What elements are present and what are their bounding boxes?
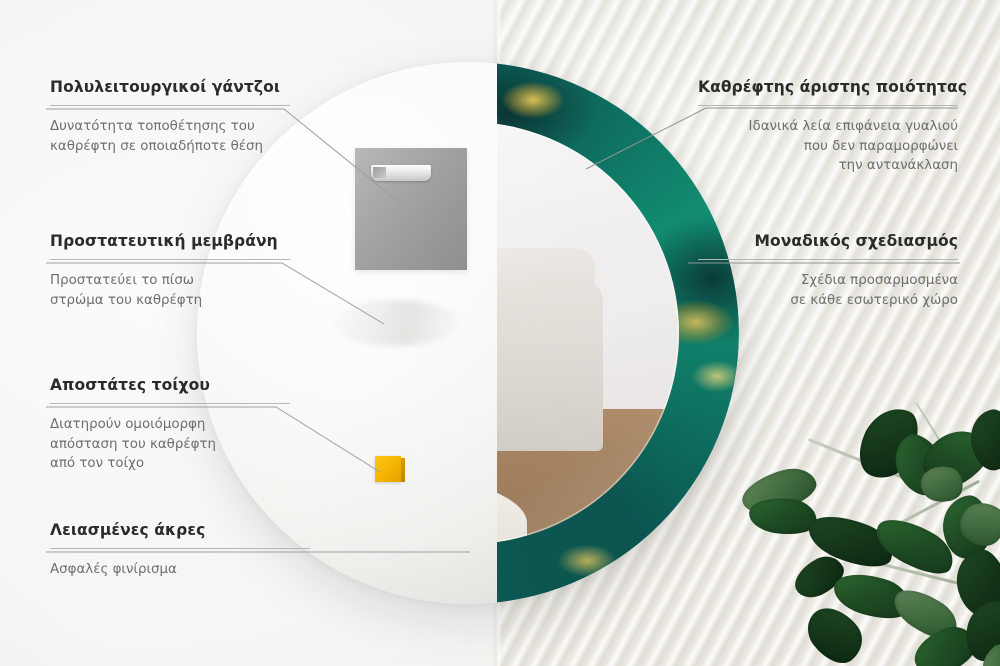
callout-description: Διατηρούν ομοιόμορφη απόσταση του καθρέφ… — [50, 415, 290, 474]
hanging-hook-plate — [355, 148, 467, 270]
callout-rule — [50, 548, 310, 549]
callout-title: Μοναδικός σχεδιασμός — [698, 232, 958, 250]
wall-spacer-chip — [375, 456, 401, 482]
callout-title: Καθρέφτης άριστης ποιότητας — [698, 78, 958, 96]
callout-description: Ασφαλές φινίρισμα — [50, 560, 310, 580]
callout-unique-design: Μοναδικός σχεδιασμός Σχέδια προσαρμοσμέν… — [698, 232, 958, 310]
callout-polished-edges: Λειασμένες άκρες Ασφαλές φινίρισμα — [50, 521, 310, 580]
callout-rule — [698, 105, 958, 106]
hook-slot-icon — [371, 165, 431, 181]
callout-description: Ιδανικά λεία επιφάνεια γυαλιού που δεν π… — [698, 117, 958, 176]
callout-multifunctional-hooks: Πολυλειτουργικοί γάντζοι Δυνατότητα τοπο… — [50, 78, 290, 156]
callout-rule — [698, 259, 958, 260]
callout-rule — [50, 105, 290, 106]
callout-wall-spacers: Αποστάτες τοίχου Διατηρούν ομοιόμορφη απ… — [50, 376, 290, 474]
protective-membrane-region — [330, 300, 460, 346]
callout-description: Σχέδια προσαρμοσμένα σε κάθε εσωτερικό χ… — [698, 271, 958, 310]
callout-protective-membrane: Προστατευτική μεμβράνη Προστατεύει το πί… — [50, 232, 290, 310]
callout-description: Δυνατότητα τοποθέτησης του καθρέφτη σε ο… — [50, 117, 290, 156]
callout-title: Αποστάτες τοίχου — [50, 376, 290, 394]
callout-rule — [50, 259, 290, 260]
foliage-decoration — [745, 400, 1000, 666]
callout-title: Λειασμένες άκρες — [50, 521, 310, 539]
callout-description: Προστατεύει το πίσω στρώμα του καθρέφτη — [50, 271, 290, 310]
callout-title: Πολυλειτουργικοί γάντζοι — [50, 78, 290, 96]
callout-rule — [50, 403, 290, 404]
callout-title: Προστατευτική μεμβράνη — [50, 232, 290, 250]
callout-top-quality-mirror: Καθρέφτης άριστης ποιότητας Ιδανικά λεία… — [698, 78, 958, 176]
infographic-canvas: Πολυλειτουργικοί γάντζοι Δυνατότητα τοπο… — [0, 0, 1000, 666]
